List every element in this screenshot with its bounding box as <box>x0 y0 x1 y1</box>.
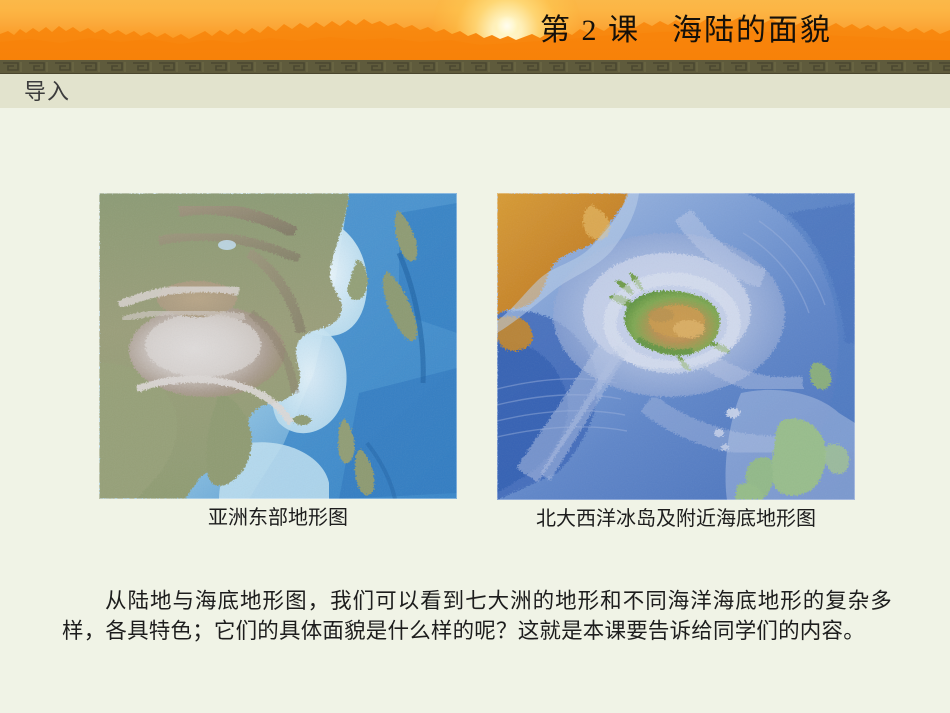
bathymetric-map-iceland-icon <box>497 193 855 500</box>
figure-iceland: 北大西洋冰岛及附近海底地形图 <box>497 193 855 500</box>
page-title: 第 2 课 海陆的面貌 <box>540 12 832 50</box>
section-band <box>0 74 950 108</box>
meander-pattern-icon <box>0 60 950 74</box>
figure-east-asia-caption: 亚洲东部地形图 <box>99 505 457 531</box>
intro-paragraph: 从陆地与海底地形图，我们可以看到七大洲的地形和不同海洋海底地形的复杂多样，各具特… <box>62 586 892 646</box>
figure-east-asia: 亚洲东部地形图 <box>99 193 457 499</box>
meander-border-decoration <box>0 60 950 74</box>
figure-east-asia-image <box>99 193 457 499</box>
figure-iceland-image <box>497 193 855 500</box>
section-label-intro: 导入 <box>24 77 70 107</box>
figure-iceland-caption: 北大西洋冰岛及附近海底地形图 <box>497 506 855 532</box>
relief-map-east-asia-icon <box>99 193 457 499</box>
slide-canvas: 第 2 课 海陆的面貌 导入 <box>0 0 950 713</box>
